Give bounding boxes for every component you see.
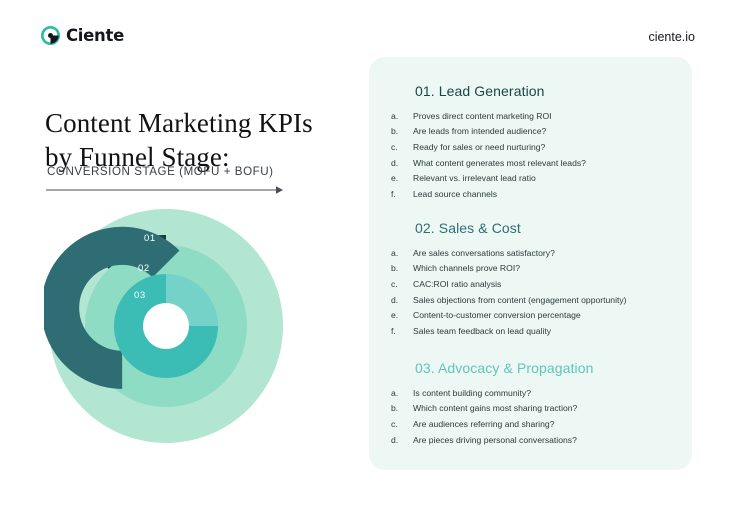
list-item-key: d. [391,434,413,446]
page-title-line-1: Content Marketing KPIs [45,108,313,138]
list-item-text: Sales team feedback on lead quality [413,325,692,337]
list-item: a. Is content building community? [369,385,692,401]
list-item: b. Which content gains most sharing trac… [369,401,692,417]
donut-label-03: 03 [134,290,146,301]
list-item: f. Lead source channels [369,186,692,202]
list-item: c. CAC:ROI ratio analysis [369,276,692,292]
list-item-key: f. [391,325,413,337]
funnel-donut-chart: 01 02 03 [44,206,294,446]
list-item-text: Relevant vs. irrelevant lead ratio [413,172,692,184]
list-item: e. Relevant vs. irrelevant lead ratio [369,171,692,187]
site-url[interactable]: ciente.io [648,30,695,44]
list-item-text: Are leads from intended audience? [413,125,692,137]
list-item: d. Are pieces driving personal conversat… [369,432,692,448]
kpi-section-advocacy-and-propagation: 03. Advocacy & Propagation a. Is content… [369,360,692,448]
donut-label-02: 02 [138,263,150,274]
kpi-section-sales-and-cost: 02. Sales & Cost a. Are sales conversati… [369,220,692,339]
list-item-text: Which channels prove ROI? [413,262,692,274]
list-item-text: Which content gains most sharing tractio… [413,402,692,414]
list-item: c. Ready for sales or need nurturing? [369,139,692,155]
kpi-panel: 01. Lead Generation a. Proves direct con… [369,57,692,470]
list-item-text: Proves direct content marketing ROI [413,110,692,122]
kpi-list-01: a. Proves direct content marketing ROI b… [369,108,692,202]
list-item-key: a. [391,387,413,399]
list-item-key: b. [391,262,413,274]
list-item-key: f. [391,188,413,200]
list-item-key: a. [391,247,413,259]
list-item-text: CAC:ROI ratio analysis [413,278,692,290]
list-item-text: Are pieces driving personal conversation… [413,434,692,446]
list-item-key: a. [391,110,413,122]
list-item-key: d. [391,157,413,169]
list-item-text: Sales objections from content (engagemen… [413,294,692,306]
list-item-text: Are sales conversations satisfactory? [413,247,692,259]
right-arrow-icon [46,182,284,192]
list-item: d. Sales objections from content (engage… [369,292,692,308]
list-item-text: Ready for sales or need nurturing? [413,141,692,153]
left-column: Content Marketing KPIs by Funnel Stage: … [0,0,360,505]
kpi-section-lead-generation: 01. Lead Generation a. Proves direct con… [369,83,692,202]
list-item: f. Sales team feedback on lead quality [369,323,692,339]
section-heading-01: 01. Lead Generation [415,83,692,99]
kpi-list-02: a. Are sales conversations satisfactory?… [369,245,692,339]
list-item-text: Are audiences referring and sharing? [413,418,692,430]
donut-label-01: 01 [144,233,156,244]
list-item-text: Content-to-customer conversion percentag… [413,309,692,321]
list-item-text: What content generates most relevant lea… [413,157,692,169]
list-item-key: b. [391,402,413,414]
list-item: e. Content-to-customer conversion percen… [369,308,692,324]
donut-center-hole [143,303,189,349]
list-item-text: Lead source channels [413,188,692,200]
page-subtitle: CONVERSION STAGE (MOFU + BOFU) [47,165,274,178]
list-item: a. Are sales conversations satisfactory? [369,245,692,261]
section-heading-03: 03. Advocacy & Propagation [415,360,692,376]
section-heading-02: 02. Sales & Cost [415,220,692,236]
list-item-key: d. [391,294,413,306]
list-item-key: b. [391,125,413,137]
list-item-key: c. [391,278,413,290]
list-item: c. Are audiences referring and sharing? [369,416,692,432]
list-item: b. Are leads from intended audience? [369,124,692,140]
list-item: d. What content generates most relevant … [369,155,692,171]
list-item: b. Which channels prove ROI? [369,261,692,277]
list-item-key: c. [391,418,413,430]
list-item-text: Is content building community? [413,387,692,399]
list-item: a. Proves direct content marketing ROI [369,108,692,124]
kpi-list-03: a. Is content building community? b. Whi… [369,385,692,448]
list-item-key: e. [391,309,413,321]
list-item-key: e. [391,172,413,184]
list-item-key: c. [391,141,413,153]
